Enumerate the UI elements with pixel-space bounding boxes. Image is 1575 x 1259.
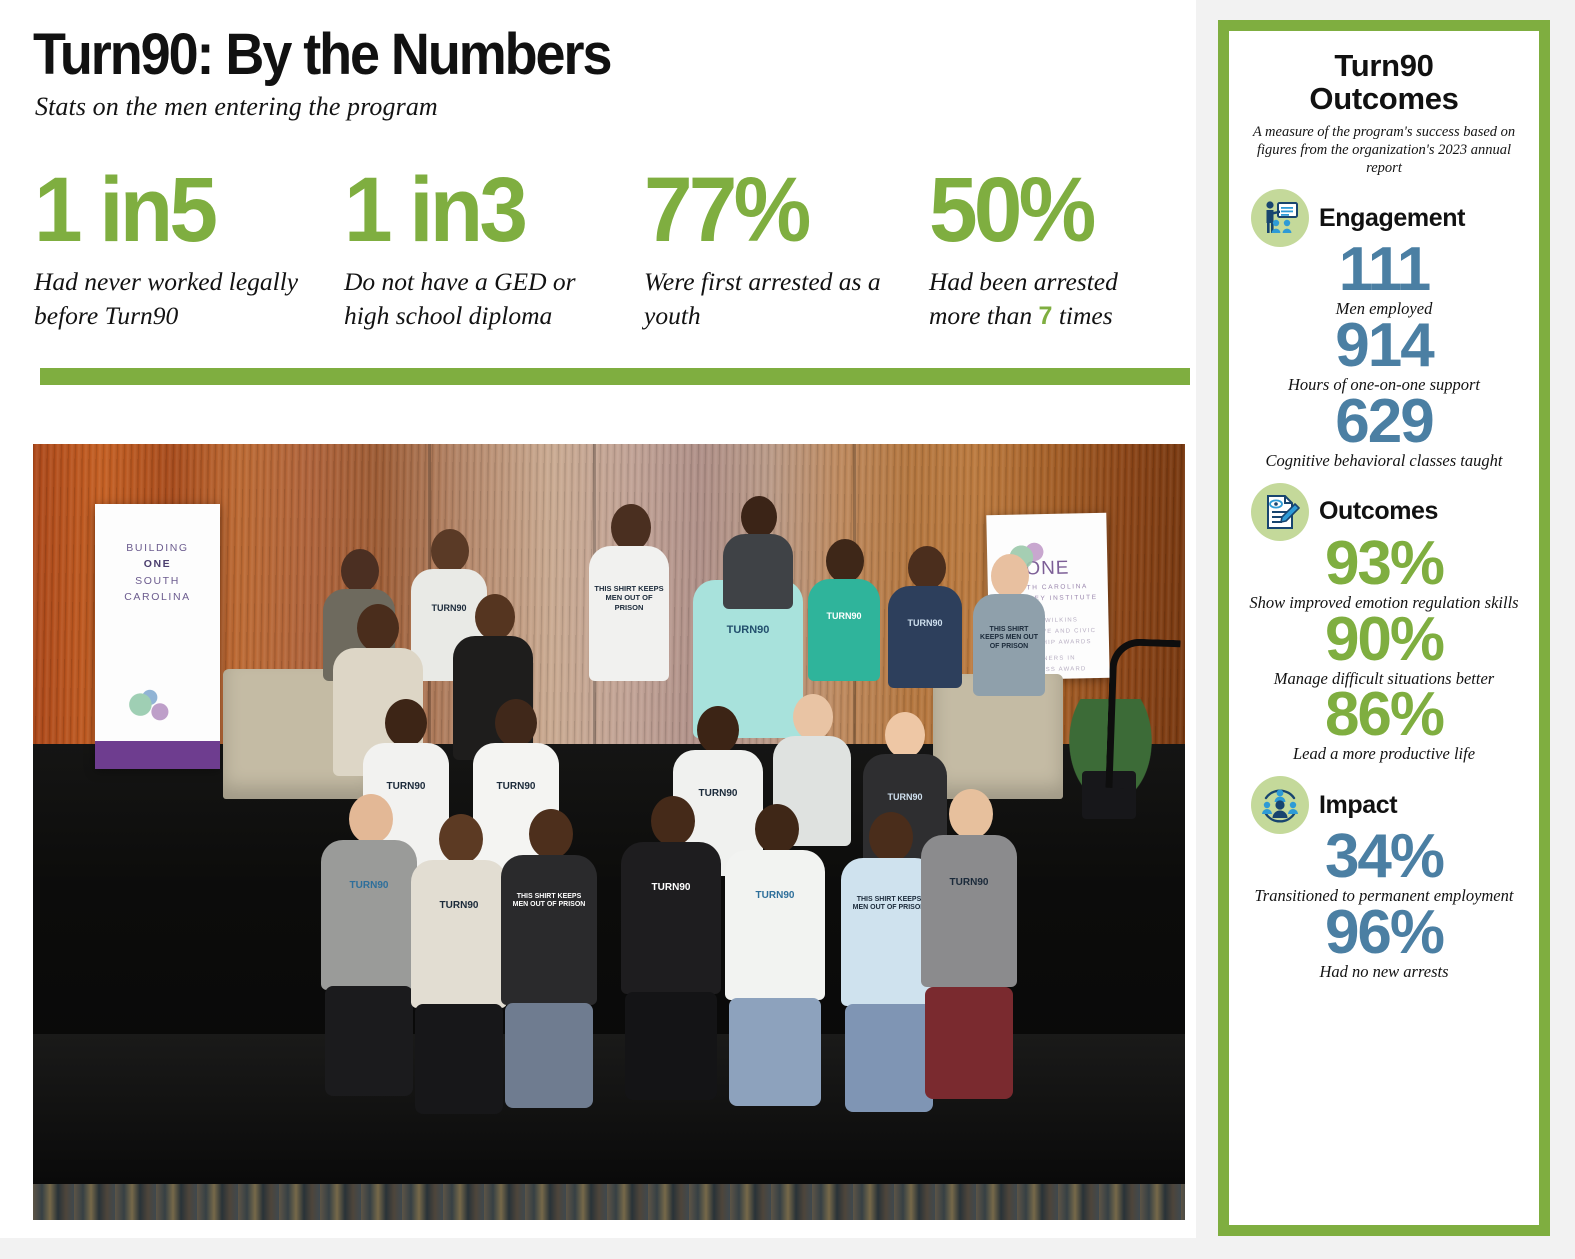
shirt-brand-text: TURN90 <box>937 877 1001 888</box>
metric-value: 86% <box>1243 686 1525 743</box>
shirt-slogan-text: THIS SHIRT KEEPS MEN OUT OF PRISON <box>977 626 1041 651</box>
metric-label: Cognitive behavioral classes taught <box>1243 451 1525 471</box>
shirt-brand-text: TURN90 <box>485 781 547 792</box>
person: THIS SHIRT KEEPS MEN OUT OF PRISON <box>973 554 1045 694</box>
metric-value: 90% <box>1243 611 1525 668</box>
shirt-slogan-text: THIS SHIRT KEEPS MEN OUT OF PRISON <box>851 896 927 913</box>
shirt-brand-text: TURN90 <box>639 882 703 893</box>
shirt-brand-text: TURN90 <box>814 611 874 621</box>
stat-label-1: Had never worked legally before Turn90 <box>34 265 314 333</box>
shirt-brand-text: TURN90 <box>743 890 807 901</box>
metric-classes-taught: 629 Cognitive behavioral classes taught <box>1243 393 1525 471</box>
stat-label-2: Do not have a GED or high school diploma <box>344 265 624 333</box>
person: THIS SHIRT KEEPS MEN OUT OF PRISON <box>589 504 669 679</box>
shirt-brand-text: TURN90 <box>375 781 437 792</box>
person: TURN90 <box>725 804 825 1104</box>
stat-label-3: Were first arrested as a youth <box>644 265 924 333</box>
person <box>723 496 793 606</box>
green-divider-rule <box>40 368 1190 385</box>
stat-label-4: Had been arrested more than 7 times <box>929 265 1164 333</box>
people-group: TURN90 THIS SHIRT KEEPS MEN OUT OF PRISO… <box>33 444 1185 1220</box>
metric-label: Lead a more productive life <box>1243 744 1525 764</box>
people-group-icon <box>1251 776 1309 834</box>
person: TURN90 <box>321 794 417 1094</box>
section-label-impact: Impact <box>1319 791 1397 820</box>
shirt-brand-text: TURN90 <box>711 624 785 636</box>
section-label-outcomes: Outcomes <box>1319 497 1438 526</box>
shirt-slogan-text: THIS SHIRT KEEPS MEN OUT OF PRISON <box>593 584 665 612</box>
stat-card-3: 77% Were first arrested as a youth <box>644 168 929 348</box>
page-subtitle: Stats on the men entering the program <box>35 92 438 122</box>
panel-subtitle: A measure of the program's success based… <box>1243 123 1525 177</box>
person: THIS SHIRT KEEPS MEN OUT OF PRISON <box>501 809 597 1104</box>
stat-value-4: 50% <box>929 168 1152 253</box>
page-title: Turn90: By the Numbers <box>33 26 610 84</box>
person: TURN90 <box>808 539 880 679</box>
shirt-slogan-text: THIS SHIRT KEEPS MEN OUT OF PRISON <box>511 893 587 910</box>
stat-value-1: 1 in5 <box>34 168 329 253</box>
person: TURN90 <box>921 789 1017 1101</box>
panel-title-line-2: Outcomes <box>1243 82 1525 115</box>
section-label-engagement: Engagement <box>1319 204 1465 233</box>
metric-difficult-situations: 90% Manage difficult situations better <box>1243 611 1525 689</box>
stat-card-2: 1 in3 Do not have a GED or high school d… <box>344 168 644 348</box>
metric-value: 34% <box>1243 828 1525 885</box>
panel-title-line-1: Turn90 <box>1243 49 1525 82</box>
entry-stats-row: 1 in5 Had never worked legally before Tu… <box>34 168 1164 348</box>
shirt-brand-text: TURN90 <box>427 900 491 911</box>
shirt-brand-text: TURN90 <box>894 618 956 628</box>
document-with-pencil-icon <box>1251 483 1309 541</box>
metric-productive-life: 86% Lead a more productive life <box>1243 686 1525 764</box>
metric-emotion-regulation: 93% Show improved emotion regulation ski… <box>1243 535 1525 613</box>
outcomes-panel: Turn90 Outcomes A measure of the program… <box>1218 20 1550 1236</box>
presenter-with-audience-icon <box>1251 189 1309 247</box>
shirt-brand-text: TURN90 <box>337 880 401 891</box>
stat-highlight-7: 7 <box>1039 302 1053 330</box>
stat-value-2: 1 in3 <box>344 168 629 253</box>
stat-value-3: 77% <box>644 168 915 253</box>
metric-permanent-employment: 34% Transitioned to permanent employment <box>1243 828 1525 906</box>
person: TURN90 <box>621 796 721 1101</box>
group-photo: BUILDING ONE SOUTH CAROLINA ONE SOUTH CA… <box>33 444 1185 1220</box>
metric-value: 93% <box>1243 535 1525 592</box>
metric-value: 629 <box>1243 393 1525 450</box>
person: TURN90 <box>411 814 507 1104</box>
panel-title: Turn90 Outcomes <box>1243 49 1525 116</box>
metric-no-new-arrests: 96% Had no new arrests <box>1243 904 1525 982</box>
metric-men-employed: 111 Men employed <box>1243 241 1525 319</box>
metric-support-hours: 914 Hours of one-on-one support <box>1243 317 1525 395</box>
stat-card-4: 50% Had been arrested more than 7 times <box>929 168 1164 348</box>
metric-label: Had no new arrests <box>1243 962 1525 982</box>
metric-value: 96% <box>1243 904 1525 961</box>
metric-value: 914 <box>1243 317 1525 374</box>
stat-card-1: 1 in5 Had never worked legally before Tu… <box>34 168 344 348</box>
person: TURN90 <box>888 546 962 686</box>
main-content-card: Turn90: By the Numbers Stats on the men … <box>0 0 1196 1238</box>
metric-value: 111 <box>1243 241 1525 298</box>
